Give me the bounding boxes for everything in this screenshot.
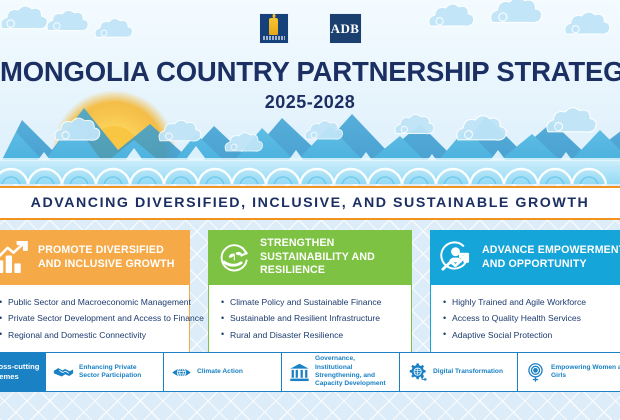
logo-row: ADB (0, 13, 620, 44)
driver-label: Enhancing Private Sector Participation (79, 364, 158, 381)
driver-label: Empowering Women and Girls (551, 364, 620, 381)
pillar-header: ADVANCE EMPOWERMENT AND OPPORTUNITY (430, 230, 620, 285)
list-item: Sustainable and Resilient Infrastructure (221, 310, 402, 326)
adb-logo: ADB (329, 13, 362, 44)
cross-cutting-themes-row: Cross-cutting Themes Enhancing Private S… (0, 352, 620, 392)
pillar-body: Highly Trained and Agile Workforce Acces… (430, 285, 620, 354)
driver-governance-institutional-strengthening[interactable]: Governance, Institutional Strengthening,… (282, 352, 400, 392)
cross-cutting-themes-label: Cross-cutting Themes (0, 352, 46, 392)
strategic-pillars-row: PROMOTE DIVERSIFIED AND INCLUSIVE GROWTH… (0, 230, 620, 354)
infographic-poster: ADB MONGOLIA COUNTRY PARTNERSHIP STRATEG… (0, 0, 620, 420)
pillar-body: Climate Policy and Sustainable Finance S… (208, 285, 412, 354)
eye-globe-icon (171, 362, 192, 383)
list-item: Regional and Domestic Connectivity (0, 327, 180, 343)
gear-globe-icon (407, 362, 428, 383)
list-item: Access to Quality Health Services (443, 310, 620, 326)
tagline-text: ADVANCING DIVERSIFIED, INCLUSIVE, AND SU… (31, 195, 590, 211)
poster-header: ADB MONGOLIA COUNTRY PARTNERSHIP STRATEG… (0, 0, 620, 184)
bar-chart-growth-icon (0, 241, 29, 274)
emblem-wordmark (263, 36, 285, 40)
pillar-item-list: Public Sector and Macroeconomic Manageme… (0, 294, 180, 343)
pillar-item-list: Highly Trained and Agile Workforce Acces… (443, 294, 620, 343)
driver-label: Climate Action (197, 368, 243, 376)
list-item: Rural and Disaster Resilience (221, 327, 402, 343)
driver-label: Governance, Institutional Strengthening,… (315, 355, 394, 388)
list-item: Highly Trained and Agile Workforce (443, 294, 620, 310)
pillar-title: PROMOTE DIVERSIFIED AND INCLUSIVE GROWTH (38, 244, 182, 271)
page-title: MONGOLIA COUNTRY PARTNERSHIP STRATEGY (0, 56, 620, 88)
government-of-mongolia-emblem (259, 13, 289, 44)
list-item: Private Sector Development and Access to… (0, 310, 180, 326)
pillar-promote-diversified-and-inclusive-growth[interactable]: PROMOTE DIVERSIFIED AND INCLUSIVE GROWTH… (0, 230, 190, 354)
person-growth-arrow-icon (440, 241, 473, 274)
women-empowerment-icon (525, 362, 546, 383)
list-item: Adaptive Social Protection (443, 327, 620, 343)
pillar-strengthen-sustainability-and-resilience[interactable]: STRENGTHEN SUSTAINABILITY AND RESILIENCE… (208, 230, 412, 354)
list-item: Public Sector and Macroeconomic Manageme… (0, 294, 180, 310)
pillar-header: PROMOTE DIVERSIFIED AND INCLUSIVE GROWTH (0, 230, 190, 285)
pillar-header: STRENGTHEN SUSTAINABILITY AND RESILIENCE (208, 230, 412, 285)
pillar-body: Public Sector and Macroeconomic Manageme… (0, 285, 190, 354)
tagline-banner: ADVANCING DIVERSIFIED, INCLUSIVE, AND SU… (0, 186, 620, 220)
pillar-title: ADVANCE EMPOWERMENT AND OPPORTUNITY (482, 244, 620, 271)
driver-climate-action[interactable]: Climate Action (164, 352, 282, 392)
pillar-title: STRENGTHEN SUSTAINABILITY AND RESILIENCE (260, 237, 404, 278)
pillar-item-list: Climate Policy and Sustainable Finance S… (221, 294, 402, 343)
driver-label: Digital Transformation (433, 368, 503, 376)
hand-sprout-recycle-icon (218, 241, 251, 274)
driver-enhancing-private-sector-participation[interactable]: Enhancing Private Sector Participation (46, 352, 164, 392)
soyombo-emblem-icon (269, 18, 278, 35)
handshake-icon (53, 362, 74, 383)
pillar-advance-empowerment-and-opportunity[interactable]: ADVANCE EMPOWERMENT AND OPPORTUNITY High… (430, 230, 620, 354)
driver-empowering-women-and-girls[interactable]: Empowering Women and Girls (518, 352, 620, 392)
driver-digital-transformation[interactable]: Digital Transformation (400, 352, 518, 392)
institution-building-icon (289, 362, 310, 383)
list-item: Climate Policy and Sustainable Finance (221, 294, 402, 310)
page-subtitle-years: 2025-2028 (0, 92, 620, 113)
